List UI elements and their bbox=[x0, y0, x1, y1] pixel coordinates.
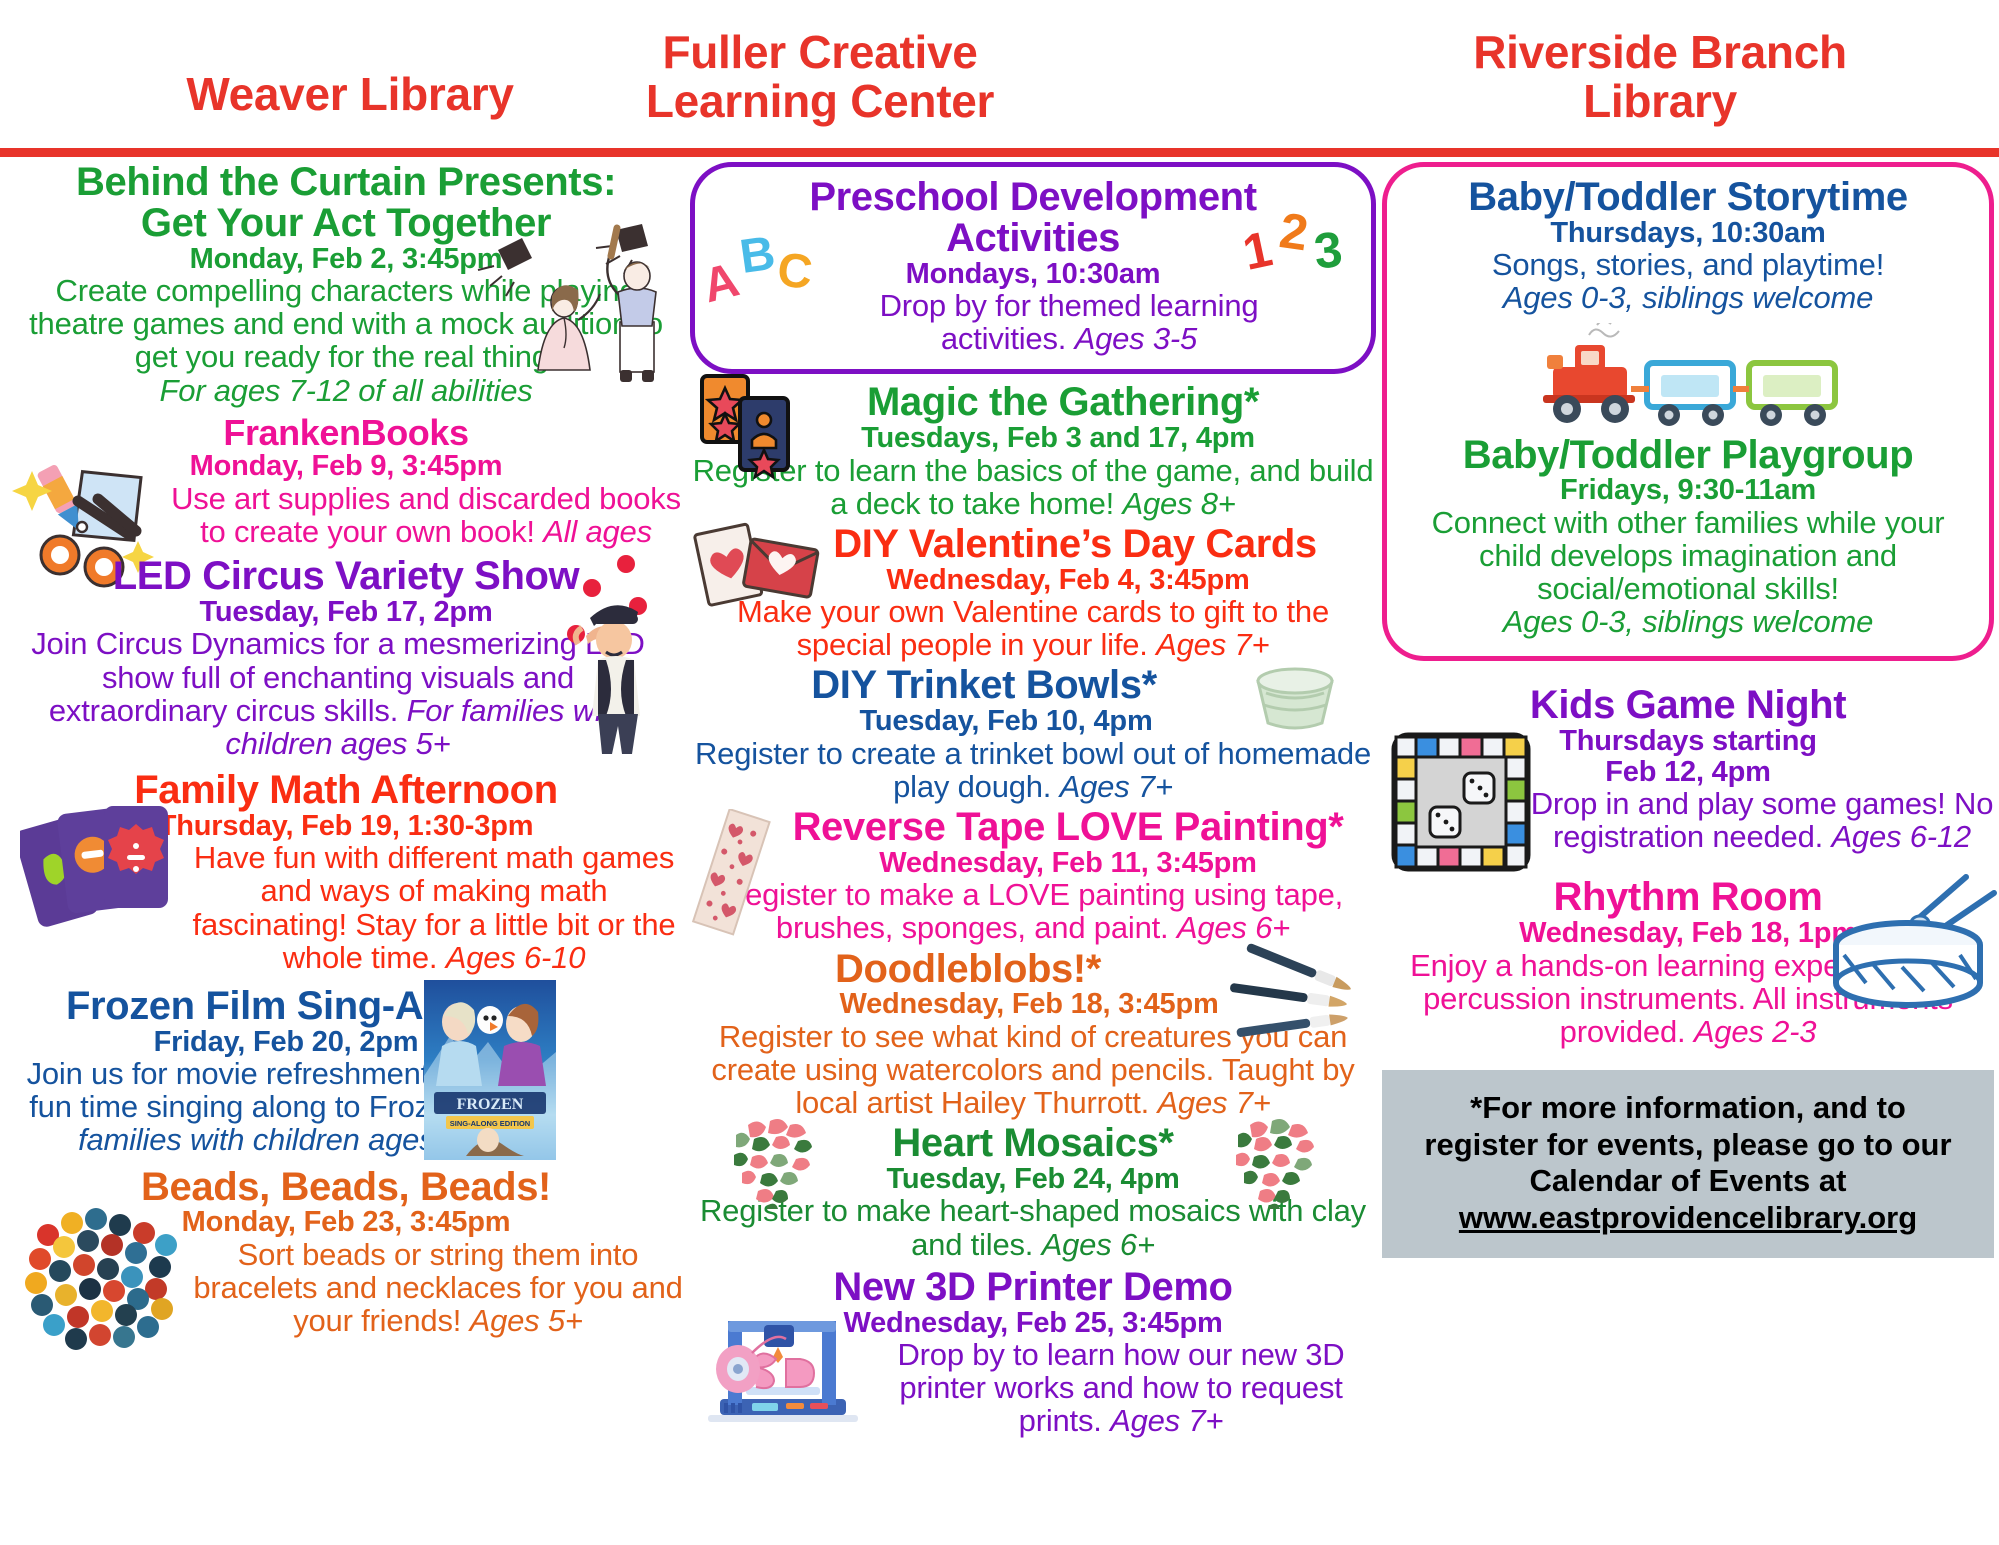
event-ages: Ages 7+ bbox=[1156, 627, 1269, 662]
event-baby-toddler-storytime: Baby/Toddler Storytime Thursdays, 10:30a… bbox=[1399, 177, 1977, 315]
event-description: Have fun with different math games and w… bbox=[6, 841, 686, 974]
event-led-circus: LED Circus Variety Show Tuesday, Feb 17,… bbox=[6, 548, 686, 760]
header-divider-rule bbox=[0, 148, 1999, 157]
event-description: Make your own Valentine cards to gift to… bbox=[690, 595, 1376, 661]
event-title: Family Math Afternoon bbox=[6, 770, 686, 811]
event-frozen-singalong: FROZEN SING-ALONG EDITION Frozen Film Si… bbox=[6, 974, 686, 1157]
event-title: FrankenBooks bbox=[6, 415, 686, 452]
event-ages: Ages 0-3, siblings welcome bbox=[1399, 281, 1977, 314]
event-description: Register to create a trinket bowl out of… bbox=[690, 737, 1376, 803]
event-title: LED Circus Variety Show bbox=[6, 556, 686, 597]
event-ages: Ages 7+ bbox=[1157, 1085, 1270, 1120]
event-valentines-cards: DIY Valentine’s Day Cards Wednesday, Feb… bbox=[690, 520, 1376, 662]
event-title: Magic the Gathering* bbox=[690, 382, 1376, 423]
event-kids-game-night: Kids Game Night Thursdays starting Feb 1… bbox=[1382, 661, 1994, 853]
event-description-text: Register to create a trinket bowl out of… bbox=[695, 736, 1371, 804]
event-datetime: Wednesday, Feb 25, 3:45pm bbox=[690, 1308, 1376, 1338]
event-datetime: Wednesday, Feb 18, 1pm bbox=[1382, 918, 1994, 948]
callout-preschool-development: A B C 1 2 3 Preschool Development Activi… bbox=[690, 162, 1376, 374]
event-datetime: Wednesday, Feb 4, 3:45pm bbox=[690, 565, 1376, 595]
event-description-text: Drop by for themed learning activities. bbox=[880, 288, 1259, 356]
event-ages: Ages 0-3, siblings welcome bbox=[1399, 605, 1977, 638]
event-title: Beads, Beads, Beads! bbox=[6, 1167, 686, 1208]
event-title: Preschool Development Activities bbox=[709, 177, 1357, 259]
event-description: Songs, stories, and playtime! bbox=[1399, 248, 1977, 281]
event-ages: Ages 3-5 bbox=[1075, 321, 1197, 356]
event-datetime: Monday, Feb 23, 3:45pm bbox=[6, 1207, 686, 1237]
event-heart-mosaics: Heart Mosaics* Tuesday, Feb 24, 4pm Regi… bbox=[690, 1119, 1376, 1261]
event-ages: For ages 7-12 of all abilities bbox=[6, 374, 686, 407]
header-fuller-center: Fuller Creative Learning Center bbox=[560, 28, 1080, 126]
event-3d-printer-demo: New 3D Printer Demo Wednesday, Feb 25, 3… bbox=[690, 1261, 1376, 1438]
more-info-line2: register for events, please go to our bbox=[1396, 1127, 1980, 1164]
header-riverside-library: Riverside Branch Library bbox=[1390, 28, 1930, 126]
event-datetime: Thursdays, 10:30am bbox=[1399, 218, 1977, 248]
event-title: Behind the Curtain Presents: Get Your Ac… bbox=[6, 162, 686, 244]
event-datetime: Wednesday, Feb 18, 3:45pm bbox=[690, 989, 1376, 1019]
weaver-column: Behind the Curtain Presents: Get Your Ac… bbox=[6, 162, 686, 1337]
event-description: Drop by to learn how our new 3D printer … bbox=[690, 1338, 1376, 1437]
event-beads: Beads, Beads, Beads! Monday, Feb 23, 3:4… bbox=[6, 1157, 686, 1338]
event-reverse-tape-love-painting: Reverse Tape LOVE Painting* Wednesday, F… bbox=[690, 803, 1376, 945]
event-datetime: Tuesdays, Feb 3 and 17, 4pm bbox=[690, 423, 1376, 453]
event-description: Register to learn the basics of the game… bbox=[690, 454, 1376, 520]
event-datetime: Fridays, 9:30-11am bbox=[1399, 475, 1977, 505]
event-title: DIY Valentine’s Day Cards bbox=[690, 524, 1376, 565]
event-ages: Ages 6+ bbox=[1177, 910, 1290, 945]
event-datetime: Wednesday, Feb 11, 3:45pm bbox=[690, 848, 1376, 878]
event-description: Use art supplies and discarded books to … bbox=[6, 482, 686, 548]
flyer-header: Weaver Library Fuller Creative Learning … bbox=[0, 0, 1999, 152]
event-title: Kids Game Night bbox=[1382, 685, 1994, 726]
event-description-text: Enjoy a hands-on learning experience on … bbox=[1410, 948, 1966, 1049]
event-title: Reverse Tape LOVE Painting* bbox=[690, 807, 1376, 848]
event-doodleblobs: Doodleblobs!* Wednesday, Feb 18, 3:45pm … bbox=[690, 945, 1376, 1120]
event-ages: All ages bbox=[543, 514, 652, 549]
event-ages: Ages 7+ bbox=[1060, 769, 1173, 804]
event-ages: Ages 7+ bbox=[1110, 1403, 1223, 1438]
library-website-url[interactable]: www.eastprovidencelibrary.org bbox=[1459, 1200, 1917, 1235]
event-description: Join Circus Dynamics for a mesmerizing L… bbox=[6, 627, 686, 760]
event-description: Connect with other families while your c… bbox=[1399, 506, 1977, 605]
event-datetime: Monday, Feb 2, 3:45pm bbox=[6, 244, 686, 274]
event-ages: Ages 6-12 bbox=[1831, 819, 1971, 854]
event-description-text: Register to learn the basics of the game… bbox=[693, 453, 1374, 521]
event-title: Doodleblobs!* bbox=[690, 949, 1376, 990]
event-description: Enjoy a hands-on learning experience on … bbox=[1382, 949, 1994, 1048]
callout-baby-toddler: Baby/Toddler Storytime Thursdays, 10:30a… bbox=[1382, 162, 1994, 661]
flyer-page: Weaver Library Fuller Creative Learning … bbox=[0, 0, 1999, 1545]
event-ages: Ages 6-10 bbox=[446, 940, 586, 975]
event-rhythm-room: Rhythm Room Wednesday, Feb 18, 1pm Enjoy… bbox=[1382, 853, 1994, 1048]
more-info-line3: Calendar of Events at bbox=[1396, 1163, 1980, 1200]
event-datetime: Friday, Feb 20, 2pm bbox=[6, 1027, 686, 1057]
more-info-box: *For more information, and to register f… bbox=[1382, 1070, 1994, 1258]
event-title: Frozen Film Sing-Along bbox=[6, 986, 686, 1027]
event-ages: Ages 2-3 bbox=[1694, 1014, 1816, 1049]
library-website-link[interactable]: www.eastprovidencelibrary.org bbox=[1396, 1200, 1980, 1237]
event-ages: Ages 6+ bbox=[1042, 1227, 1155, 1262]
event-frankenbooks: FrankenBooks Monday, Feb 9, 3:45pm Use a… bbox=[6, 411, 686, 548]
header-riverside-line1: Riverside Branch bbox=[1390, 28, 1930, 77]
event-datetime: Thursday, Feb 19, 1:30-3pm bbox=[6, 811, 686, 841]
event-title: Baby/Toddler Storytime bbox=[1399, 177, 1977, 218]
event-datetime: Tuesday, Feb 10, 4pm bbox=[690, 706, 1376, 736]
header-fuller-line2: Learning Center bbox=[560, 77, 1080, 126]
riverside-column: Baby/Toddler Storytime Thursdays, 10:30a… bbox=[1382, 162, 1994, 1258]
event-description-text: Have fun with different math games and w… bbox=[193, 840, 676, 974]
event-title: New 3D Printer Demo bbox=[690, 1267, 1376, 1308]
event-description-text: Sort beads or string them into bracelets… bbox=[193, 1237, 682, 1338]
event-title: Heart Mosaics* bbox=[690, 1123, 1376, 1164]
event-description-text: Register to make heart-shaped mosaics wi… bbox=[700, 1193, 1366, 1261]
fuller-column: A B C 1 2 3 Preschool Development Activi… bbox=[690, 162, 1376, 1437]
event-family-math: Family Math Afternoon Thursday, Feb 19, … bbox=[6, 760, 686, 974]
more-info-line1: *For more information, and to bbox=[1396, 1090, 1980, 1127]
event-magic-the-gathering: Magic the Gathering* Tuesdays, Feb 3 and… bbox=[690, 374, 1376, 520]
event-datetime: Thursdays starting Feb 12, 4pm bbox=[1382, 726, 1994, 787]
toy-train-icon bbox=[1523, 323, 1853, 433]
event-title: DIY Trinket Bowls* bbox=[690, 665, 1376, 706]
event-datetime: Monday, Feb 9, 3:45pm bbox=[6, 451, 686, 481]
event-datetime: Mondays, 10:30am bbox=[709, 259, 1357, 289]
event-datetime: Tuesday, Feb 17, 2pm bbox=[6, 597, 686, 627]
event-ages: Ages 8+ bbox=[1122, 486, 1235, 521]
event-description: Drop in and play some games! No registra… bbox=[1382, 787, 1994, 853]
event-datetime: Tuesday, Feb 24, 4pm bbox=[690, 1164, 1376, 1194]
event-description-text: Join us for movie refreshments and a fun… bbox=[27, 1056, 530, 1124]
header-fuller-line1: Fuller Creative bbox=[560, 28, 1080, 77]
event-description: Join us for movie refreshments and a fun… bbox=[6, 1057, 686, 1156]
event-description: Drop by for themed learning activities. … bbox=[709, 289, 1357, 355]
event-ages: Ages 5+ bbox=[470, 1303, 583, 1338]
event-description: Create compelling characters while playi… bbox=[6, 274, 686, 373]
event-baby-toddler-playgroup: Baby/Toddler Playgroup Fridays, 9:30-11a… bbox=[1399, 435, 1977, 639]
event-description: Register to make a LOVE painting using t… bbox=[690, 878, 1376, 944]
event-trinket-bowls: DIY Trinket Bowls* Tuesday, Feb 10, 4pm … bbox=[690, 661, 1376, 803]
event-title: Baby/Toddler Playgroup bbox=[1399, 435, 1977, 476]
event-description: Register to see what kind of creatures y… bbox=[690, 1020, 1376, 1119]
event-title: Rhythm Room bbox=[1382, 877, 1994, 918]
event-description: Register to make heart-shaped mosaics wi… bbox=[690, 1194, 1376, 1260]
header-riverside-line2: Library bbox=[1390, 77, 1930, 126]
event-description: Sort beads or string them into bracelets… bbox=[6, 1238, 686, 1337]
event-behind-the-curtain: Behind the Curtain Presents: Get Your Ac… bbox=[6, 162, 686, 411]
